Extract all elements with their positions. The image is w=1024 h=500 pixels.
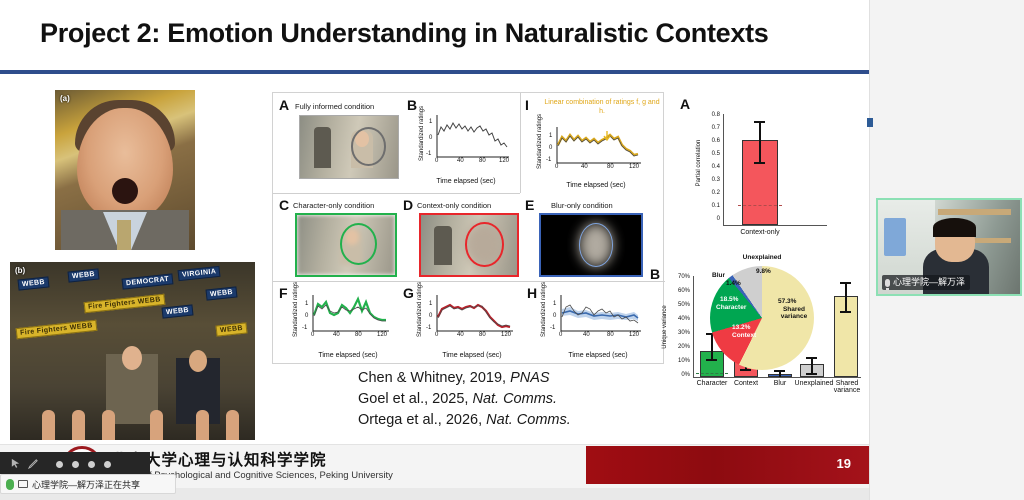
- citation-authors: Chen & Whitney, 2019,: [358, 370, 506, 386]
- chart-B-errorcap-bottom: [806, 373, 817, 375]
- chart-B-errorcap-bottom: [740, 369, 751, 371]
- raised-hand: [72, 410, 85, 440]
- chart-A-xcat: Context-only: [722, 229, 798, 236]
- figure-multipanel: A Fully informed condition B Standardize…: [272, 92, 664, 364]
- panel-letter-E: E: [525, 197, 534, 213]
- panel-H-trace: [543, 293, 643, 345]
- chart-B-errorcap-bottom: [840, 311, 851, 313]
- chart-A-ytick: 0.4: [702, 164, 720, 170]
- panel-D-caption: Context-only condition: [417, 201, 491, 210]
- slide-number: 19: [837, 456, 851, 471]
- chart-B-chance-line: [696, 373, 728, 374]
- citation-item: Chen & Whitney, 2019, PNAS: [358, 368, 571, 389]
- open-mouth-shape: [112, 178, 138, 204]
- panel-H-ylabel: Standardized ratings: [541, 303, 547, 337]
- pie-value-context: 13.2%: [732, 324, 750, 331]
- panel-G-ylabel: Standardized ratings: [417, 303, 423, 337]
- person-hair: [933, 218, 976, 237]
- chart-B-ytick: 10%: [668, 358, 690, 364]
- chart-B-errorcap-top: [774, 370, 785, 372]
- panel-B-plot: Standardized ratings 1 0 -1 0 40 80 120 …: [421, 113, 511, 169]
- citation-authors: Goel et al., 2025,: [358, 391, 468, 407]
- panel-B-xtick: 120: [499, 158, 509, 164]
- panel-I-ylabel: Standardized ratings: [537, 135, 543, 169]
- raised-hand: [226, 410, 239, 440]
- panel-B-xtick: 0: [435, 158, 438, 164]
- panel-F-ylabel: Standardized ratings: [293, 303, 299, 337]
- panel-B-ytick: -1: [426, 151, 431, 157]
- microphone-active-icon[interactable]: [6, 479, 14, 490]
- figure-divider: [273, 281, 665, 282]
- photo-angry-man: (a): [55, 90, 195, 250]
- chart-A-errorbar: [759, 121, 761, 163]
- panel-G-ytick: -1: [426, 325, 431, 331]
- panel-letter-B: B: [407, 97, 417, 113]
- chart-B-xaxis: [693, 377, 861, 378]
- raised-hand: [102, 410, 115, 440]
- shared-slide: Project 2: Emotion Understanding in Natu…: [0, 0, 869, 488]
- chart-B-ytick: 70%: [668, 274, 690, 280]
- rail-collapse-handle[interactable]: [867, 118, 873, 127]
- slide-number-banner: 19: [586, 446, 869, 484]
- chart-B-ytick: 0%: [668, 372, 690, 378]
- citation-journal: PNAS: [510, 370, 550, 386]
- panel-F-ytick: 1: [305, 301, 308, 307]
- panel-I-xtick: 80: [607, 164, 614, 170]
- share-status-text: 心理学院—解万泽正在共享: [32, 478, 140, 491]
- citation-authors: Ortega et al., 2026,: [358, 412, 482, 428]
- chart-panel-A: A Partial correlation 0.8 0.7 0.6 0.5 0.…: [676, 96, 862, 256]
- mouse-pointer-icon[interactable]: [10, 458, 21, 469]
- panel-F-ytick: 0: [305, 313, 308, 319]
- panel-I-annotation: Linear combination of ratings f, g and h…: [541, 99, 663, 117]
- pie-label-shared: Shared variance: [774, 306, 814, 320]
- chart-B-xcat: Unexplained: [792, 380, 836, 387]
- panel-H-xtick: 120: [629, 332, 639, 338]
- rally-sign: DEMOCRAT: [122, 273, 174, 289]
- panel-B-xtick: 80: [479, 158, 486, 164]
- panel-B-xlabel: Time elapsed (sec): [421, 178, 511, 185]
- panel-A-caption: Fully informed condition: [295, 102, 374, 111]
- panel-letter-G: G: [403, 285, 414, 301]
- chart-panel-B: B Unique variance 70% 60% 50% 40% 30% 20…: [650, 258, 864, 418]
- chart-A-errorcap-bottom: [754, 162, 765, 164]
- citation-item: Ortega et al., 2026, Nat. Comms.: [358, 410, 571, 431]
- chart-A-chance-line: [738, 205, 782, 206]
- rally-sign: Fire Fighters WEBB: [84, 294, 166, 313]
- panel-E-caption: Blur-only condition: [551, 201, 613, 210]
- blur-ring: [579, 223, 613, 266]
- chart-A-ytick: 0.5: [702, 151, 720, 157]
- panel-F-xtick: 120: [377, 332, 387, 338]
- chart-A-yaxis: [723, 114, 724, 226]
- chart-B-xcat: Character: [694, 380, 730, 387]
- clear-icon[interactable]: [104, 461, 111, 468]
- panel-H-ytick: -1: [550, 325, 555, 331]
- eraser-icon[interactable]: [72, 461, 79, 468]
- panel-C-image: [295, 213, 397, 277]
- panel-F-ytick: -1: [302, 325, 307, 331]
- participant-name: 心理学院—解万泽: [893, 275, 965, 290]
- pen-icon[interactable]: [28, 458, 39, 469]
- participant-name-badge: 心理学院—解万泽: [882, 275, 970, 290]
- rally-sign: WEBB: [216, 322, 248, 336]
- panel-H-ytick: 1: [553, 301, 556, 307]
- panel-H-plot: Standardized ratings 1 0 -1 0 40 80 120 …: [543, 293, 643, 345]
- panel-letter-C: C: [279, 197, 289, 213]
- panel-I-ytick: -1: [546, 157, 551, 163]
- bystander-figure: [434, 226, 451, 266]
- context-ring: [465, 222, 503, 266]
- panel-H-xtick: 40: [583, 332, 590, 338]
- pie-label-context: Context: [732, 332, 756, 339]
- panel-F-xtick: 0: [311, 332, 314, 338]
- panel-H-xtick: 80: [607, 332, 614, 338]
- slide-title: Project 2: Emotion Understanding in Natu…: [40, 18, 840, 62]
- pie-value-shared: 57.3%: [778, 298, 796, 305]
- screen-share-icon: [18, 480, 28, 488]
- panel-B-xtick: 40: [457, 158, 464, 164]
- chart-B-ytick: 50%: [668, 302, 690, 308]
- pie-label-unexplained: Unexplained: [720, 254, 804, 261]
- zoom-toolbar-strip: [0, 452, 150, 474]
- chart-A-ytick: 0.3: [702, 177, 720, 183]
- citation-list: Chen & Whitney, 2019, PNAS Goel et al., …: [358, 368, 571, 431]
- chart-A-ytick: 0.1: [702, 203, 720, 209]
- panel-letter-H: H: [527, 285, 537, 301]
- chart-B-ytick: 30%: [668, 330, 690, 336]
- chart-B-xcat: Shared variance: [832, 380, 862, 395]
- pie-value-character: 18.5%: [720, 296, 738, 303]
- panel-I-xlabel: Time elapsed (sec): [549, 182, 643, 189]
- panel-F-xtick: 80: [355, 332, 362, 338]
- second-man-head: [189, 350, 207, 372]
- panel-G-xtick: 120: [501, 332, 511, 338]
- chart-A-errorcap-top: [754, 121, 765, 123]
- chart-A-ytick: 0: [702, 216, 720, 222]
- screen-share-status-bar[interactable]: 心理学院—解万泽正在共享: [0, 474, 176, 494]
- panel-I-plot: Standardized ratings 1 0 -1 0 40 80 120 …: [539, 125, 643, 175]
- chart-B-errorbar: [711, 333, 713, 359]
- participant-video-tile[interactable]: 心理学院—解万泽: [876, 198, 1022, 296]
- panel-H-xlabel: Time elapsed (sec): [553, 352, 643, 359]
- chart-B-letter: B: [650, 266, 660, 282]
- rally-sign: WEBB: [206, 286, 238, 300]
- pie-label-character: Character: [716, 304, 746, 311]
- chart-A-ytick: 0.6: [702, 138, 720, 144]
- speaker-head: [122, 346, 142, 370]
- chart-A-xaxis: [723, 225, 827, 226]
- photo-label-b: (b): [15, 266, 25, 275]
- target-highlight-ring: [351, 127, 386, 165]
- panel-B-ytick: 1: [429, 119, 432, 125]
- chart-B-ytick: 20%: [668, 344, 690, 350]
- panel-G-xlabel: Time elapsed (sec): [429, 352, 515, 359]
- panel-G-xtick: 80: [479, 332, 486, 338]
- panel-F-xlabel: Time elapsed (sec): [305, 352, 391, 359]
- rally-sign: WEBB: [162, 304, 194, 318]
- chart-A-ytick: 0.7: [702, 125, 720, 131]
- bystander-figure: [314, 127, 332, 168]
- chart-B-errorcap-top: [806, 357, 817, 359]
- citation-journal: Nat. Comms.: [486, 412, 571, 428]
- pie-value-unexplained: 9.8%: [756, 268, 771, 275]
- panel-D-image: [419, 213, 519, 277]
- chart-B-errorbar: [811, 357, 813, 374]
- panel-G-ytick: 0: [429, 313, 432, 319]
- rally-sign: WEBB: [18, 276, 50, 290]
- citation-journal: Nat. Comms.: [472, 391, 557, 407]
- figure-divider: [520, 93, 521, 193]
- panel-letter-D: D: [403, 197, 413, 213]
- chart-B-xcat: Context: [730, 380, 762, 387]
- panel-letter-F: F: [279, 285, 288, 301]
- panel-I-ytick: 1: [549, 133, 552, 139]
- microphone-icon: [885, 279, 890, 287]
- chart-B-errorcap-bottom: [706, 359, 717, 361]
- wood-rail: [938, 209, 1012, 215]
- panel-C-caption: Character-only condition: [293, 201, 374, 210]
- tie-shape: [117, 220, 131, 250]
- panel-letter-I: I: [525, 97, 529, 113]
- panel-G-xtick: 0: [435, 332, 438, 338]
- chart-B-ytick: 40%: [668, 316, 690, 322]
- panel-H-ytick: 0: [553, 313, 556, 319]
- pie-label-blur: Blur: [712, 272, 725, 279]
- title-divider: [0, 70, 869, 74]
- chart-B-ytick: 60%: [668, 288, 690, 294]
- more-options-icon[interactable]: [88, 461, 95, 468]
- panel-G-plot: Standardized ratings 1 0 -1 0 40 80 120 …: [419, 293, 515, 345]
- rally-sign: WEBB: [68, 268, 100, 282]
- chart-A-letter: A: [680, 96, 690, 112]
- panel-F-xtick: 40: [333, 332, 340, 338]
- panel-I-xtick: 120: [629, 164, 639, 170]
- zoom-screen-share-window: Project 2: Emotion Understanding in Natu…: [0, 0, 1024, 500]
- citation-item: Goel et al., 2025, Nat. Comms.: [358, 389, 571, 410]
- chart-A-ytick: 0.2: [702, 190, 720, 196]
- panel-B-ytick: 0: [429, 135, 432, 141]
- rally-sign: VIRGINIA: [178, 266, 221, 281]
- photo-label-a: (a): [60, 94, 70, 103]
- photo-rally: WEBB WEBB DEMOCRAT VIRGINIA WEBB Fire Fi…: [10, 262, 255, 440]
- panel-A-image: [299, 115, 399, 179]
- figure-divider: [273, 193, 520, 194]
- panel-I-xtick: 0: [555, 164, 558, 170]
- panel-I-xtick: 40: [581, 164, 588, 170]
- hanging-cloth: [884, 218, 906, 256]
- raised-hand: [42, 410, 55, 440]
- panel-H-xtick: 0: [559, 332, 562, 338]
- panel-F-plot: Standardized ratings 1 0 -1 0 40 80 120 …: [295, 293, 391, 345]
- annotation-icon[interactable]: [56, 461, 63, 468]
- pie-value-blur: 1.4%: [726, 280, 741, 287]
- panel-G-ytick: 1: [429, 301, 432, 307]
- panel-B-ylabel: Standardized ratings: [419, 127, 425, 161]
- chart-B-yaxis: [693, 276, 694, 378]
- panel-letter-A: A: [279, 97, 289, 113]
- chart-B-errorcap-top: [840, 282, 851, 284]
- chart-B-errorbar: [845, 282, 847, 312]
- chart-A-ytick: 0.8: [702, 112, 720, 118]
- panel-I-ytick: 0: [549, 145, 552, 151]
- panel-E-image: [539, 213, 643, 277]
- panel-G-xtick: 40: [457, 332, 464, 338]
- raised-hand: [196, 410, 209, 440]
- rally-sign: Fire Fighters WEBB: [16, 320, 98, 339]
- raised-hand: [150, 410, 163, 440]
